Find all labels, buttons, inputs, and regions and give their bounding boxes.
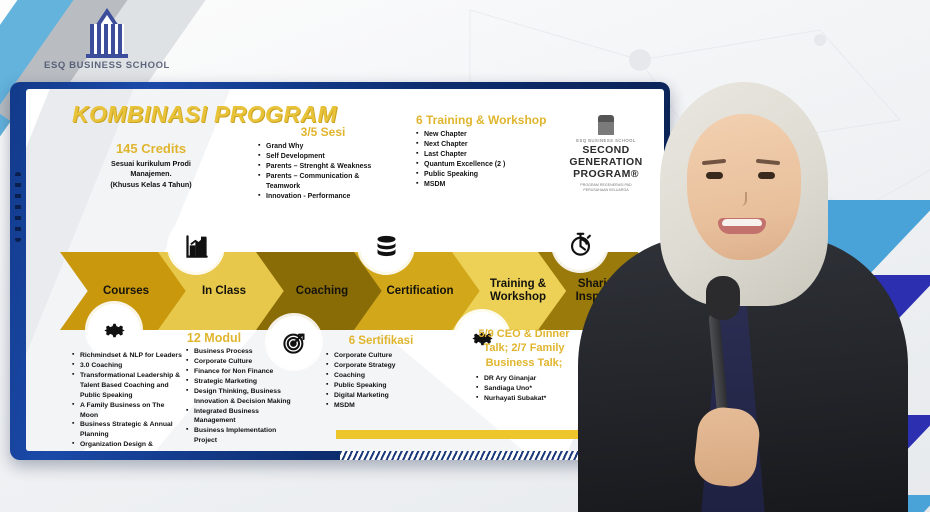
modul-list-1: Richmindset & NLP for Leaders 3.0 Coachi… bbox=[72, 351, 184, 450]
list-item: New Chapter bbox=[416, 130, 566, 140]
presenter-face bbox=[687, 114, 801, 260]
sertifikasi-heading: 6 Sertifikasi bbox=[326, 335, 436, 347]
list-item: Digital Marketing bbox=[326, 391, 436, 401]
sesi-list: Grand Why Self Development Parents – Str… bbox=[258, 142, 388, 202]
list-item: Business Implementation Project bbox=[186, 426, 298, 446]
list-item: Integrated Business Management bbox=[186, 407, 298, 427]
list-item: Grand Why bbox=[258, 142, 388, 152]
list-item: Corporate Strategy bbox=[326, 361, 436, 371]
modul-column-1: Richmindset & NLP for Leaders 3.0 Coachi… bbox=[72, 351, 184, 450]
list-item: Parents – Strenght & Weakness bbox=[258, 162, 388, 172]
list-item: Finance for Non Finance bbox=[186, 367, 298, 377]
list-item: Transformational Leadership & Talent Bas… bbox=[72, 371, 184, 401]
brand-name: ESQ BUSINESS SCHOOL bbox=[32, 60, 182, 71]
list-item: Strategic Marketing bbox=[186, 377, 298, 387]
list-item: 3.0 Coaching bbox=[72, 361, 184, 371]
list-item: Last Chapter bbox=[416, 150, 566, 160]
monitor-ports bbox=[15, 172, 21, 242]
step-label-2: Workshop bbox=[490, 291, 546, 304]
step-label: In Class bbox=[202, 285, 246, 298]
list-item: Quantum Excellence (2 ) bbox=[416, 160, 566, 170]
modul-column-2: Business Process Corporate Culture Finan… bbox=[186, 347, 298, 446]
list-item: Organization Design & bbox=[72, 440, 184, 450]
gear-icon bbox=[88, 304, 140, 356]
list-item: Design Thinking, Business Innovation & D… bbox=[186, 387, 298, 407]
list-item: Business Process bbox=[186, 347, 298, 357]
list-item: Innovation - Performance bbox=[258, 192, 388, 202]
list-item: Self Development bbox=[258, 152, 388, 162]
modul-list-2: Business Process Corporate Culture Finan… bbox=[186, 347, 298, 446]
list-item: Coaching bbox=[326, 371, 436, 381]
credits-note-3: (Khusus Kelas 4 Tahun) bbox=[86, 180, 216, 190]
credits-note-1: Sesuai kurikulum Prodi bbox=[86, 159, 216, 169]
presenter-nose bbox=[736, 192, 747, 206]
brand-logo: ESQ BUSINESS SCHOOL bbox=[32, 8, 182, 80]
sesi-block: 3/5 Sesi Grand Why Self Development Pare… bbox=[258, 125, 388, 202]
credits-heading: 145 Credits bbox=[86, 141, 216, 156]
presenter-eye-right bbox=[758, 172, 775, 179]
list-item: Next Chapter bbox=[416, 140, 566, 150]
modul-heading: 12 Modul bbox=[154, 331, 274, 345]
list-item: Corporate Culture bbox=[186, 357, 298, 367]
list-item: Corporate Culture bbox=[326, 351, 436, 361]
database-icon bbox=[360, 220, 412, 272]
list-item: MSDM bbox=[416, 180, 566, 190]
presenter-person bbox=[560, 40, 930, 512]
training-list: New Chapter Next Chapter Last Chapter Qu… bbox=[416, 130, 566, 190]
microphone-head bbox=[706, 276, 740, 320]
bar-chart-icon bbox=[170, 220, 222, 272]
training-block: 6 Training & Workshop New Chapter Next C… bbox=[416, 113, 566, 190]
list-item: Business Strategic & Annual Planning bbox=[72, 420, 184, 440]
credits-note-2: Manajemen. bbox=[86, 169, 216, 179]
list-item: Parents – Communication & Teamwork bbox=[258, 172, 388, 192]
list-item: Richmindset & NLP for Leaders bbox=[72, 351, 184, 361]
step-label: Coaching bbox=[296, 285, 348, 298]
presenter-teeth bbox=[722, 219, 762, 226]
step-label: Courses bbox=[103, 285, 149, 298]
sertifikasi-block: 6 Sertifikasi Corporate Culture Corporat… bbox=[326, 335, 436, 411]
sesi-heading: 3/5 Sesi bbox=[258, 125, 388, 139]
sertifikasi-list: Corporate Culture Corporate Strategy Coa… bbox=[326, 351, 436, 411]
building-columns-icon bbox=[84, 8, 130, 58]
training-heading: 6 Training & Workshop bbox=[416, 113, 566, 127]
credits-block: 145 Credits Sesuai kurikulum Prodi Manaj… bbox=[86, 141, 216, 190]
presenter-eye-left bbox=[706, 172, 723, 179]
list-item: MSDM bbox=[326, 401, 436, 411]
slide-title: KOMBINASI PROGRAM bbox=[72, 101, 337, 128]
step-label: Training & bbox=[490, 278, 546, 291]
list-item: A Family Business on The Moon bbox=[72, 401, 184, 421]
step-label: Certification bbox=[386, 285, 453, 298]
list-item: Public Speaking bbox=[326, 381, 436, 391]
list-item: Public Speaking bbox=[416, 170, 566, 180]
